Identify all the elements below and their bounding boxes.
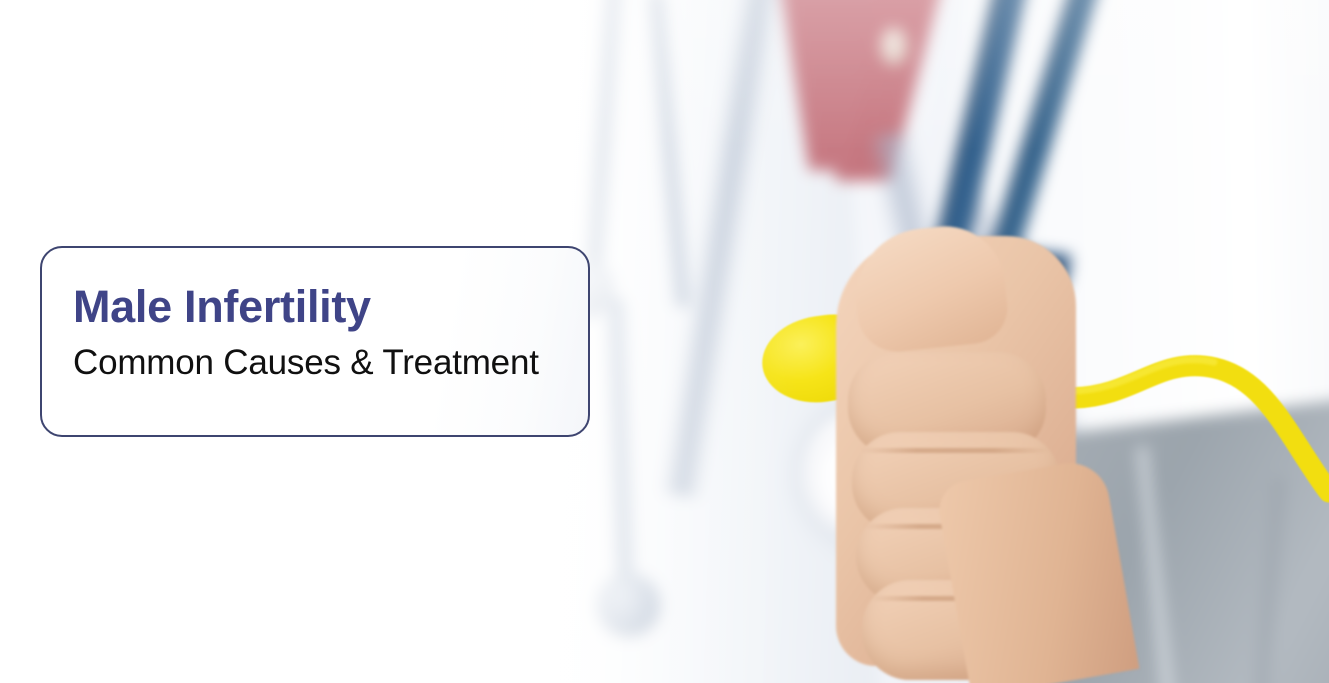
page-subtitle: Common Causes & Treatment [73,345,574,380]
male-infertility-banner: Male Infertility Common Causes & Treatme… [0,0,1329,683]
wrist [935,457,1140,683]
page-title: Male Infertility [73,284,574,329]
finger-crease-1 [860,448,1050,453]
title-card-inner: Male Infertility Common Causes & Treatme… [73,284,574,380]
thumb-nail [0,0,57,48]
title-card: Male Infertility Common Causes & Treatme… [40,246,590,437]
